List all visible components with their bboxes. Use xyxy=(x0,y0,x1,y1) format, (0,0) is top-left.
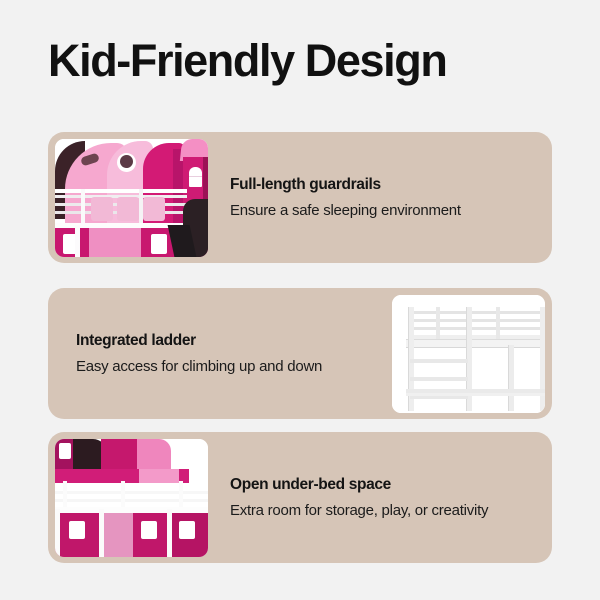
card-description: Ensure a safe sleeping environment xyxy=(230,200,534,221)
product-image-under-bed-space xyxy=(55,439,208,557)
feature-card-ladder: Integrated ladder Easy access for climbi… xyxy=(48,288,552,419)
product-image-loft-bed-frame-ladder xyxy=(392,295,545,413)
card-title: Open under-bed space xyxy=(230,475,534,495)
illustration-castle-tent-loft-bed xyxy=(55,139,208,257)
card-title: Full-length guardrails xyxy=(230,175,534,195)
card-copy: Full-length guardrails Ensure a safe sle… xyxy=(208,175,552,221)
card-copy: Open under-bed space Extra room for stor… xyxy=(208,475,552,521)
card-description: Extra room for storage, play, or creativ… xyxy=(230,500,534,521)
feature-card-under-bed-space: Open under-bed space Extra room for stor… xyxy=(48,432,552,563)
card-inner: Open under-bed space Extra room for stor… xyxy=(48,432,552,563)
card-copy: Integrated ladder Easy access for climbi… xyxy=(48,331,392,377)
infographic-page: Kid-Friendly Design xyxy=(0,0,600,600)
card-description: Easy access for climbing up and down xyxy=(76,356,382,377)
card-title: Integrated ladder xyxy=(76,331,382,351)
card-inner: Integrated ladder Easy access for climbi… xyxy=(48,288,552,419)
product-image-castle-tent-loft-bed xyxy=(55,139,208,257)
illustration-white-loft-bed-frame xyxy=(392,295,545,413)
feature-card-guardrails: Full-length guardrails Ensure a safe sle… xyxy=(48,132,552,263)
card-inner: Full-length guardrails Ensure a safe sle… xyxy=(48,132,552,263)
illustration-pink-tent-bunk-bed xyxy=(55,439,208,557)
page-title: Kid-Friendly Design xyxy=(48,34,446,88)
